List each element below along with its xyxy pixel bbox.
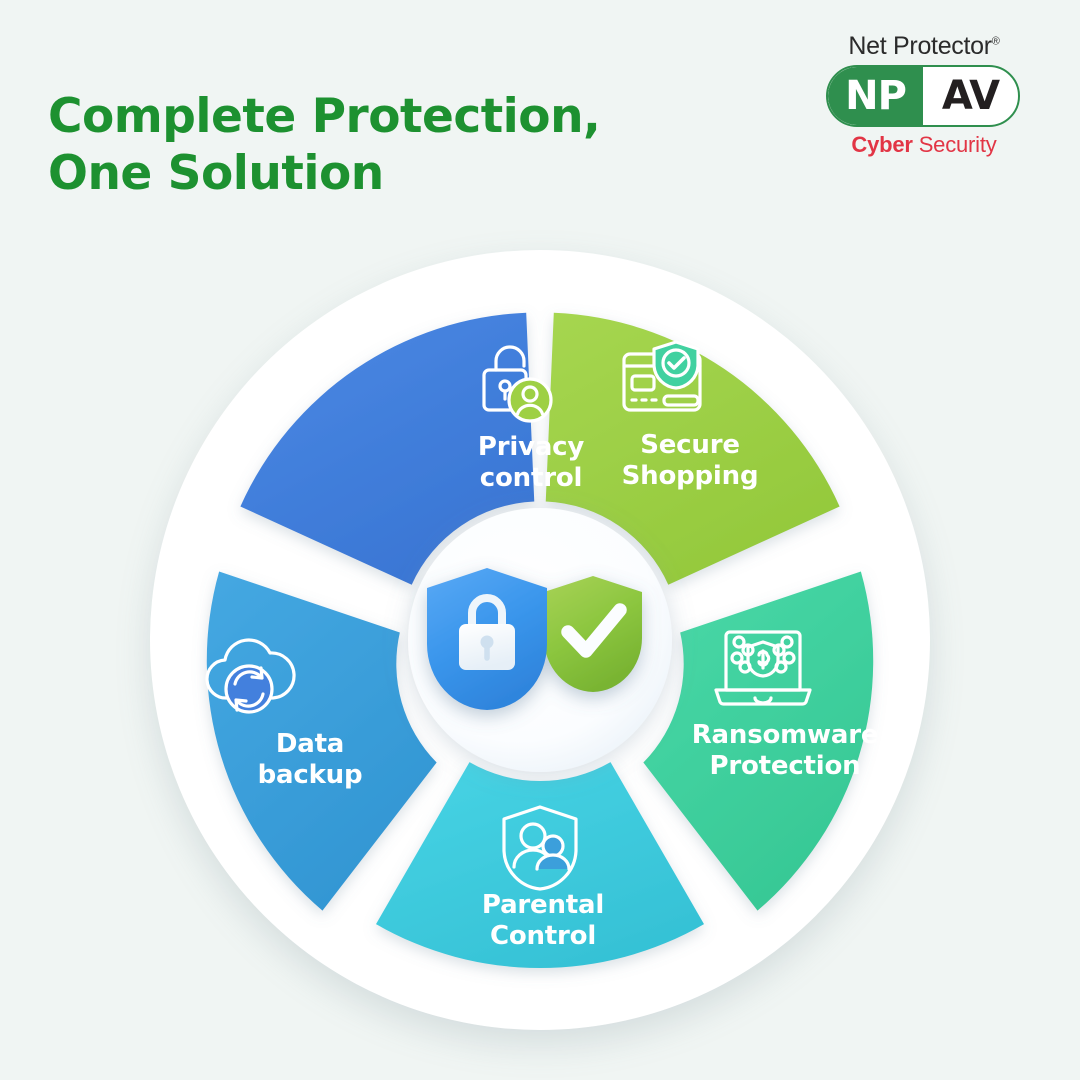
logo-badge: NP AV <box>826 65 1020 127</box>
logo-tagline: Cyber Security <box>826 134 1022 156</box>
label-privacy-control-line2: control <box>480 463 582 493</box>
protection-wheel: Privacy control Secure Shopping Ransomwa… <box>150 250 930 1030</box>
logo-badge-np: NP <box>828 67 923 125</box>
logo-tagline-security: Security <box>919 132 997 157</box>
logo-tagline-cyber: Cyber <box>851 132 912 157</box>
logo-brand-line: Net Protector® <box>826 34 1022 65</box>
page-title: Complete Protection, One Solution <box>48 88 600 203</box>
label-secure-shopping-line2: Shopping <box>622 461 759 491</box>
logo-badge-av: AV <box>923 67 1018 125</box>
label-ransomware-protection-line1: Ransomware <box>692 720 879 750</box>
label-parental-control-line1: Parental <box>482 890 604 920</box>
label-parental-control-line2: Control <box>490 921 596 951</box>
registered-mark-icon: ® <box>992 36 1000 48</box>
green-shield-check <box>544 576 642 692</box>
logo-brand-text: Net Protector® <box>848 34 999 59</box>
label-data-backup-line2: backup <box>258 760 363 790</box>
blue-shield-lock <box>427 568 547 710</box>
label-data-backup-line1: Data <box>276 729 344 759</box>
label-secure-shopping-line1: Secure <box>640 430 740 460</box>
logo-brand-label: Net Protector <box>848 32 991 60</box>
label-privacy-control-line1: Privacy <box>478 432 584 462</box>
wheel-chart: Privacy control Secure Shopping Ransomwa… <box>150 250 930 1030</box>
label-ransomware-protection-line2: Protection <box>710 751 861 781</box>
npav-logo: Net Protector® NP AV Cyber Security <box>826 34 1022 156</box>
